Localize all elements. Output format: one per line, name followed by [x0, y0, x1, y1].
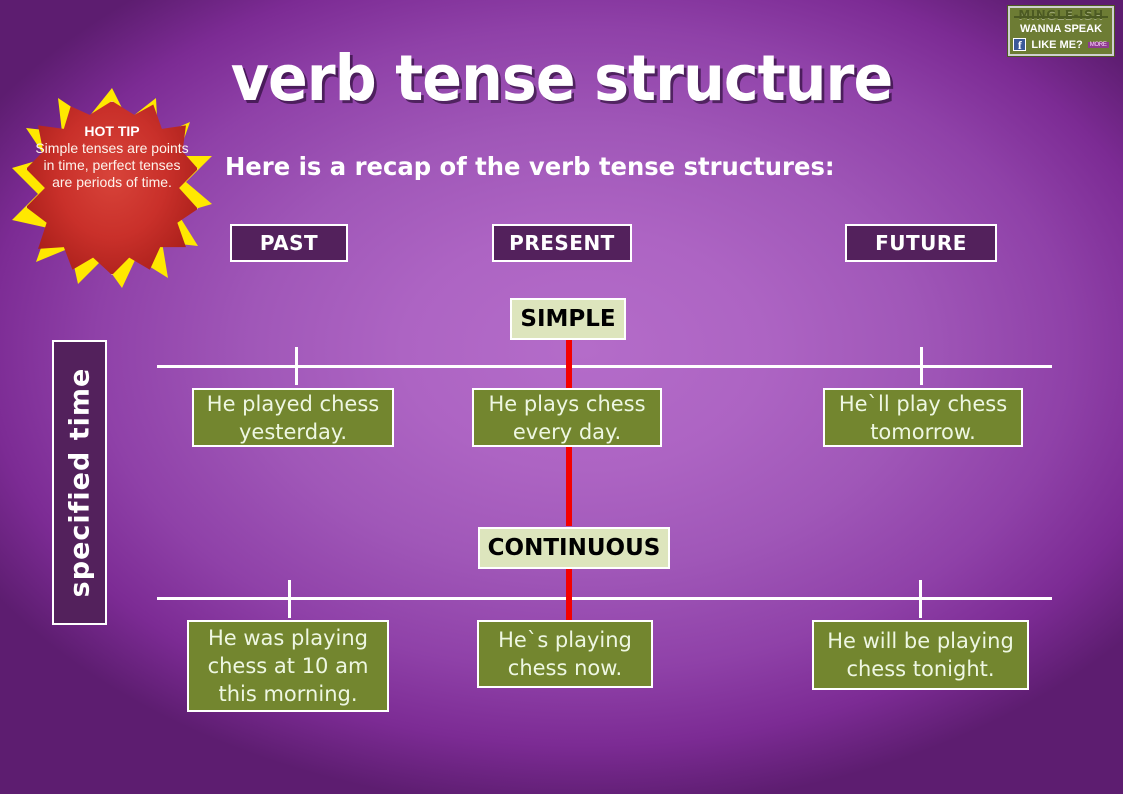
page-subtitle: Here is a recap of the verb tense struct…: [225, 150, 835, 184]
timeline-tick-simple-future: [920, 347, 923, 385]
example-continuous-past[interactable]: He was playing chess at 10 am this morni…: [187, 620, 389, 712]
period-header-present[interactable]: PRESENT: [492, 224, 632, 262]
axis-label-text: specified time: [64, 368, 95, 598]
slide-canvas: MINGLE-ISH WANNA SPEAK f LIKE ME? MORE v…: [0, 0, 1123, 794]
example-continuous-present[interactable]: He`s playing chess now.: [477, 620, 653, 688]
timeline-continuous: [157, 597, 1052, 600]
period-header-future[interactable]: FUTURE: [845, 224, 997, 262]
aspect-label-simple[interactable]: SIMPLE: [510, 298, 626, 340]
period-header-past[interactable]: PAST: [230, 224, 348, 262]
timeline-tick-continuous-future: [919, 580, 922, 618]
timeline-simple: [157, 365, 1052, 368]
axis-label-specified-time: specified time: [52, 340, 107, 625]
hot-tip-body: Simple tenses are points in time, perfec…: [35, 140, 188, 190]
example-simple-present[interactable]: He plays chess every day.: [472, 388, 662, 447]
hot-tip-callout: HOT TIP Simple tenses are points in time…: [12, 88, 212, 288]
timeline-tick-simple-past: [295, 347, 298, 385]
logo-strikethrough: [1014, 16, 1108, 18]
aspect-label-continuous[interactable]: CONTINUOUS: [478, 527, 670, 569]
hot-tip-text: HOT TIP Simple tenses are points in time…: [32, 123, 192, 191]
example-continuous-future[interactable]: He will be playing chess tonight.: [812, 620, 1029, 690]
logo-tagline-line1: WANNA SPEAK: [1010, 23, 1112, 36]
hot-tip-heading: HOT TIP: [32, 123, 192, 140]
timeline-tick-continuous-past: [288, 580, 291, 618]
logo-mini-badge: MORE: [1088, 42, 1109, 48]
example-simple-future[interactable]: He`ll play chess tomorrow.: [823, 388, 1023, 447]
example-simple-past[interactable]: He played chess yesterday.: [192, 388, 394, 447]
